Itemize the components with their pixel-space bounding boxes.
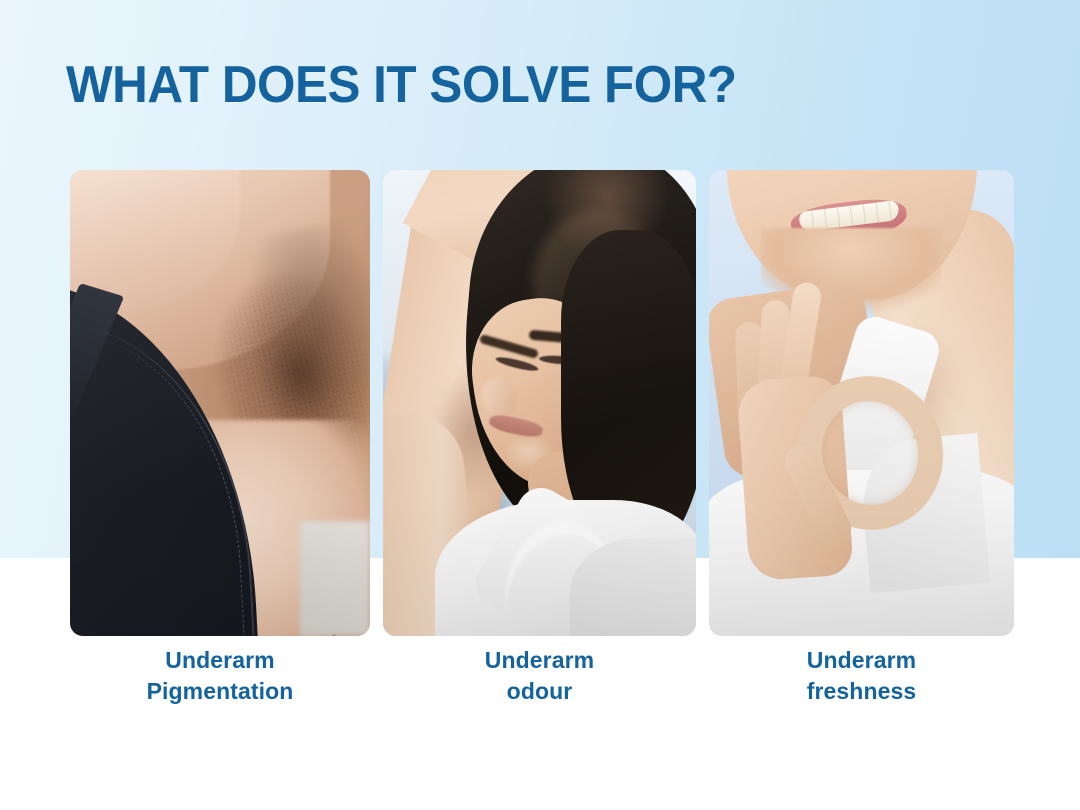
image-card-underarm-pigmentation[interactable] bbox=[70, 170, 370, 636]
page-title: WHAT DOES IT SOLVE FOR? bbox=[66, 56, 921, 114]
image-card-row bbox=[70, 170, 1014, 636]
caption-line-1: Underarm bbox=[70, 645, 370, 676]
caption-row: Underarm Pigmentation Underarm odour Und… bbox=[70, 645, 1014, 735]
caption-underarm-odour: Underarm odour bbox=[383, 645, 696, 735]
slide-canvas: WHAT DOES IT SOLVE FOR? bbox=[0, 0, 1080, 810]
caption-line-2: freshness bbox=[709, 676, 1014, 707]
image-card-underarm-freshness[interactable] bbox=[709, 170, 1014, 636]
caption-line-1: Underarm bbox=[383, 645, 696, 676]
caption-line-1: Underarm bbox=[709, 645, 1014, 676]
image-card-underarm-odour[interactable] bbox=[383, 170, 696, 636]
photo-underarm-odour bbox=[383, 170, 696, 636]
caption-line-2: odour bbox=[383, 676, 696, 707]
photo-underarm-freshness bbox=[709, 170, 1014, 636]
caption-underarm-pigmentation: Underarm Pigmentation bbox=[70, 645, 370, 735]
caption-underarm-freshness: Underarm freshness bbox=[709, 645, 1014, 735]
background-corner bbox=[300, 521, 370, 636]
caption-line-2: Pigmentation bbox=[70, 676, 370, 707]
photo-underarm-pigmentation bbox=[70, 170, 370, 636]
